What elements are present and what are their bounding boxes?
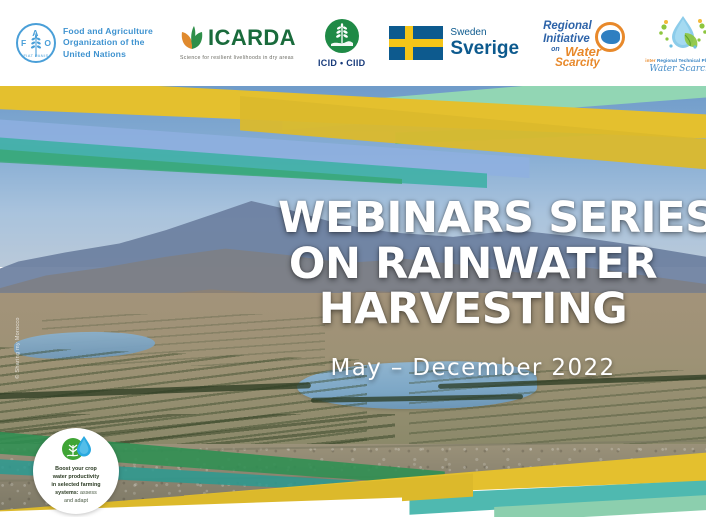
- partner-logo-bar: F A O FIAT PANIS: [0, 0, 706, 86]
- fao-line-2: Organization of the: [63, 37, 153, 48]
- fao-logo: F A O FIAT PANIS: [16, 23, 153, 63]
- badge-line-1: Boost your crop: [55, 466, 97, 472]
- icarda-wordmark: ICARDA: [208, 27, 296, 49]
- badge-drop-wheat-icon: [61, 435, 91, 461]
- poster-title-block: WEBINARS SERIES ON RAINWATER HARVESTING …: [278, 196, 668, 381]
- ri-scarcity: Scarcity: [555, 57, 600, 69]
- badge-caption: Boost your crop water productivity in se…: [44, 465, 107, 506]
- fao-letter-o: O: [44, 38, 51, 48]
- badge-line-4-light: assess: [79, 490, 97, 496]
- fao-motto: FIAT PANIS: [23, 53, 48, 58]
- regional-initiative-water-scarcity-logo: Regional Initiative on Water Scarcity: [541, 14, 627, 72]
- sweden-label-sv: Sverige: [450, 39, 519, 58]
- swedish-flag-icon: [389, 26, 443, 60]
- title-line-2: ON RAINWATER: [278, 242, 668, 288]
- poster-date-range: May – December 2022: [278, 355, 668, 381]
- badge-line-4-bold: systems:: [55, 490, 78, 496]
- inter-regional-technical-platform-logo: inter Regional Technical Platform Water …: [637, 13, 706, 74]
- title-line-3: HARVESTING: [278, 287, 668, 333]
- crop-water-productivity-badge: Boost your crop water productivity in se…: [33, 428, 119, 514]
- fao-emblem-icon: F A O FIAT PANIS: [16, 23, 56, 63]
- photo-credit: © Sharing my Morocco: [15, 300, 21, 396]
- icid-logo: ICID • CIID: [318, 19, 365, 68]
- icarda-tagline: Science for resilient livelihoods in dry…: [179, 55, 294, 61]
- webinar-series-poster: F A O FIAT PANIS: [0, 0, 706, 517]
- globe-icon: [595, 22, 625, 52]
- title-line-1: WEBINARS SERIES: [278, 196, 668, 242]
- fao-letter-f: F: [21, 38, 26, 48]
- badge-line-2: water productivity: [53, 474, 99, 480]
- ri-on: on: [551, 46, 560, 53]
- fao-wordmark: Food and Agriculture Organization of the…: [63, 26, 153, 60]
- ri-line-1: Regional: [543, 20, 592, 32]
- icid-wordmark: ICID • CIID: [318, 58, 365, 68]
- badge-line-5: and adapt: [64, 498, 88, 504]
- irtp-title: inter Regional Technical Platform: [645, 58, 706, 63]
- fao-line-1: Food and Agriculture: [63, 26, 153, 37]
- icarda-logo: ICARDA Science for resilient livelihoods…: [179, 25, 296, 61]
- fao-line-3: United Nations: [63, 49, 153, 60]
- badge-line-3: in selected farming: [51, 482, 100, 488]
- sweden-wordmark: Sweden Sverige: [450, 28, 519, 58]
- irtp-script-label: Water Scarcity: [649, 64, 706, 74]
- sweden-logo: Sweden Sverige: [389, 26, 519, 60]
- water-drop-leaf-icon: [655, 13, 706, 55]
- sweden-label-en: Sweden: [450, 28, 519, 38]
- icarda-leaf-icon: [179, 25, 205, 51]
- icid-emblem-icon: [325, 19, 359, 53]
